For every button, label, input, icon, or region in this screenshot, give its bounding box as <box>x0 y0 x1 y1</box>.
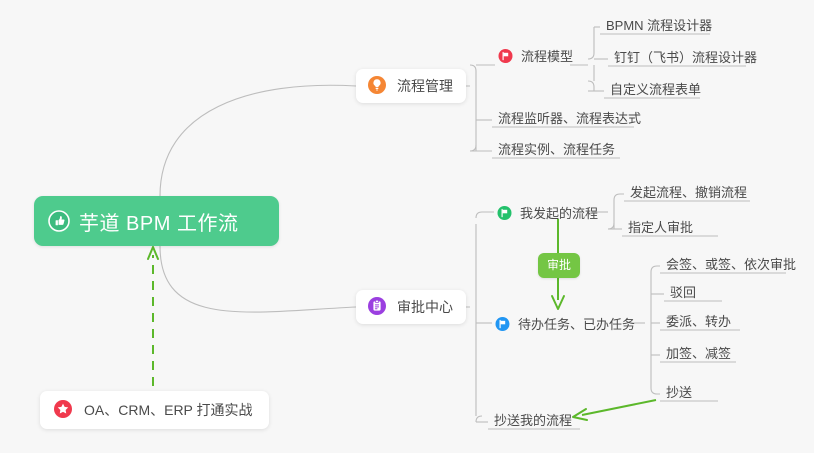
node-reject[interactable]: 驳回 <box>664 282 702 305</box>
node-cc-to-me-processes[interactable]: 抄送我的流程 <box>488 410 578 433</box>
flag-icon-blue <box>495 316 510 335</box>
node-label-cc-to-me-processes: 抄送我的流程 <box>494 413 572 428</box>
node-add-remove-sign[interactable]: 加签、减签 <box>660 343 737 366</box>
node-todo-done-tasks[interactable]: 待办任务、已办任务 <box>492 314 641 337</box>
callout-label-integration: OA、CRM、ERP 打通实战 <box>84 400 253 420</box>
node-my-started-processes[interactable]: 我发起的流程 <box>494 203 604 226</box>
node-start-cancel-process[interactable]: 发起流程、撤销流程 <box>624 182 753 205</box>
branch-node-process-management[interactable]: 流程管理 <box>356 69 466 103</box>
node-label-countersign-or-sequential: 会签、或签、依次审批 <box>666 257 796 272</box>
node-dingtalk-feishu-designer[interactable]: 钉钉（飞书）流程设计器 <box>608 47 763 70</box>
star-icon <box>53 399 75 421</box>
connector-process-to-instance <box>470 145 476 151</box>
flag-icon-green <box>497 205 512 224</box>
node-process-instance-task[interactable]: 流程实例、流程任务 <box>492 139 621 162</box>
connector-started-to-start <box>614 194 624 200</box>
node-label-assignee-approval: 指定人审批 <box>628 220 693 235</box>
root-label: 芋道 BPM 工作流 <box>79 207 238 236</box>
annotation-label-approval: 审批 <box>547 258 571 272</box>
node-label-bpmn-designer: BPMN 流程设计器 <box>606 18 712 33</box>
node-label-dingtalk-feishu-designer: 钉钉（飞书）流程设计器 <box>614 50 757 65</box>
root-node[interactable]: 芋道 BPM 工作流 <box>34 196 279 246</box>
node-label-process-listener-expression: 流程监听器、流程表达式 <box>498 111 641 126</box>
branch-label-process-management: 流程管理 <box>397 76 453 96</box>
node-assignee-approval[interactable]: 指定人审批 <box>622 217 699 240</box>
lightbulb-icon <box>367 75 389 97</box>
connector-approval-to-ccme <box>476 416 482 422</box>
connector-root-to-approval <box>160 246 356 312</box>
connector-todo-to-cc <box>651 388 660 394</box>
node-label-todo-done-tasks: 待办任务、已办任务 <box>518 317 635 332</box>
branch-node-approval-center[interactable]: 审批中心 <box>356 290 466 324</box>
node-label-start-cancel-process: 发起流程、撤销流程 <box>630 185 747 200</box>
callout-arrow <box>148 247 158 386</box>
connector-model-to-form <box>588 81 594 91</box>
node-label-custom-process-form: 自定义流程表单 <box>610 82 701 97</box>
annotation-approval[interactable]: 审批 <box>538 253 580 278</box>
node-label-my-started-processes: 我发起的流程 <box>520 206 598 221</box>
node-label-process-model: 流程模型 <box>521 49 573 64</box>
connector-model-trunk-top <box>588 27 594 59</box>
connector-todo-to-countersign <box>651 266 660 272</box>
clipboard-icon <box>367 296 389 318</box>
node-bpmn-designer[interactable]: BPMN 流程设计器 <box>600 15 718 38</box>
connector-started-to-assignee <box>608 223 614 229</box>
thumbs-up-icon <box>48 210 70 232</box>
connector-process-trunk-top <box>470 65 476 86</box>
node-label-process-instance-task: 流程实例、流程任务 <box>498 142 615 157</box>
node-countersign-or-sequential[interactable]: 会签、或签、依次审批 <box>660 254 802 277</box>
mindmap-canvas: 芋道 BPM 工作流 流程管理 审批中心 <box>0 0 814 453</box>
cc-flow-arrow <box>573 400 656 420</box>
branch-label-approval-center: 审批中心 <box>397 297 453 317</box>
node-label-reject: 驳回 <box>670 285 696 300</box>
node-cc[interactable]: 抄送 <box>660 382 698 405</box>
node-process-model[interactable]: 流程模型 <box>495 46 579 69</box>
node-label-add-remove-sign: 加签、减签 <box>666 346 731 361</box>
node-label-delegate-transfer: 委派、转办 <box>666 314 731 329</box>
node-process-listener-expression[interactable]: 流程监听器、流程表达式 <box>492 108 647 131</box>
connector-root-to-process <box>160 85 356 196</box>
flag-icon-red <box>498 48 513 67</box>
callout-node-integration[interactable]: OA、CRM、ERP 打通实战 <box>40 391 269 429</box>
node-custom-process-form[interactable]: 自定义流程表单 <box>604 79 707 102</box>
node-label-cc: 抄送 <box>666 385 692 400</box>
node-delegate-transfer[interactable]: 委派、转办 <box>660 311 737 334</box>
connector-approval-to-started <box>476 212 494 218</box>
